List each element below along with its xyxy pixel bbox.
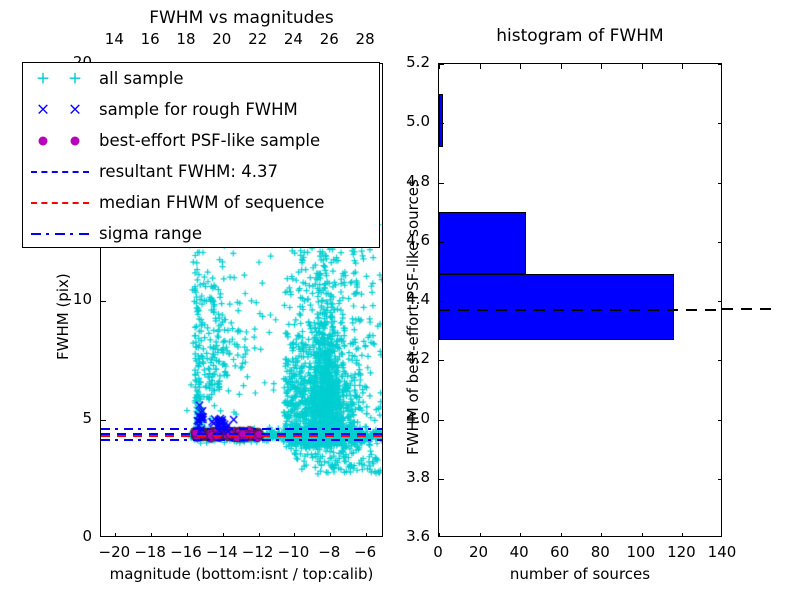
left-y-axis-label: FWHM (pix) [54, 273, 72, 360]
histogram-bar [439, 212, 526, 274]
right-y-tick-mark [439, 183, 444, 184]
legend-label: best-effort PSF-like sample [99, 131, 320, 150]
right-x-tick-mark [561, 533, 562, 537]
ref-line-sigma-upper [101, 428, 382, 430]
right-y-tick-label: 5.2 [390, 53, 430, 71]
right-x-tick-mark [642, 533, 643, 537]
right-y-tick-mark [439, 479, 444, 480]
left-x-tick-mark [259, 533, 260, 537]
histogram-bar [439, 94, 443, 147]
circle-marker [71, 136, 80, 145]
right-x-tick-mark [439, 533, 440, 537]
legend: ++all sample××sample for rough FWHMbest-… [22, 62, 380, 248]
left-x-tick-mark [366, 533, 367, 537]
legend-label: median FHWM of sequence [99, 193, 324, 212]
right-y-tick-mark [439, 242, 444, 243]
circle-marker [39, 136, 48, 145]
dashed-line [31, 202, 89, 204]
left-y-tick-label: 5 [56, 409, 92, 427]
right-x-tick-label: 40 [499, 543, 539, 561]
right-x-tick-mark [480, 533, 481, 537]
legend-marker-cross-marker: ×× [23, 94, 99, 125]
right-y-tick-mark [718, 242, 722, 243]
right-y-tick-label: 3.8 [390, 468, 430, 486]
top-tick-label: 16 [138, 30, 162, 48]
right-y-tick-mark [718, 64, 722, 65]
legend-marker-circle-marker [23, 125, 99, 156]
left-x-tick-label: −12 [240, 543, 276, 561]
top-tick-label: 14 [102, 30, 126, 48]
right-y-tick-mark [718, 183, 722, 184]
left-x-tick-label: −18 [132, 543, 168, 561]
legend-label: all sample [99, 69, 184, 88]
legend-marker-dash-dot-line [23, 218, 99, 249]
cross-marker: × [68, 101, 82, 118]
legend-label: sample for rough FWHM [99, 100, 298, 119]
left-x-tick-mark [330, 533, 331, 537]
hist-ref-line-resultant-fwhm [439, 309, 721, 311]
right-y-tick-mark [439, 360, 444, 361]
right-y-tick-mark [718, 420, 722, 421]
dashed-line [31, 171, 89, 173]
right-x-tick-label: 120 [661, 543, 701, 561]
top-tick-label: 28 [353, 30, 377, 48]
right-plot-title: histogram of FWHM [438, 26, 722, 46]
legend-marker-dashed-line [23, 187, 99, 218]
right-x-tick-label: 60 [540, 543, 580, 561]
right-y-tick-mark [439, 123, 444, 124]
legend-label: sigma range [99, 224, 202, 243]
right-y-tick-mark [718, 479, 722, 480]
legend-item: ××sample for rough FWHM [23, 94, 379, 125]
dash-dot-line [31, 233, 89, 235]
left-x-tick-mark [187, 533, 188, 537]
right-x-tick-label: 80 [580, 543, 620, 561]
legend-item: best-effort PSF-like sample [23, 125, 379, 156]
right-x-tick-mark [642, 64, 643, 69]
hist-ref-line-overflow-segment [722, 308, 778, 310]
legend-label: resultant FWHM: 4.37 [99, 162, 278, 181]
histogram-bar [439, 274, 674, 339]
right-y-tick-mark [439, 420, 444, 421]
left-x-tick-label: −6 [347, 543, 383, 561]
right-x-tick-mark [682, 64, 683, 69]
legend-item: sigma range [23, 218, 379, 249]
right-y-tick-label: 5.0 [390, 112, 430, 130]
cross-marker: × [36, 101, 50, 118]
left-x-tick-label: −8 [311, 543, 347, 561]
right-x-tick-mark [601, 64, 602, 69]
left-x-tick-label: −10 [275, 543, 311, 561]
right-x-tick-label: 0 [418, 543, 458, 561]
legend-item: ++all sample [23, 63, 379, 94]
left-plot-title: FWHM vs magnitudes [100, 8, 383, 28]
legend-item: resultant FWHM: 4.37 [23, 156, 379, 187]
right-x-tick-mark [480, 64, 481, 69]
right-y-tick-mark [439, 301, 444, 302]
top-tick-label: 24 [281, 30, 305, 48]
right-x-tick-label: 140 [702, 543, 742, 561]
plus-marker: + [68, 70, 82, 87]
top-tick-label: 26 [317, 30, 341, 48]
right-x-tick-label: 100 [621, 543, 661, 561]
left-y-tick-mark [101, 420, 106, 421]
right-x-tick-mark [520, 533, 521, 537]
right-x-tick-mark [682, 533, 683, 537]
legend-item: median FHWM of sequence [23, 187, 379, 218]
ref-line-sigma-lower [101, 439, 382, 441]
left-x-tick-mark [151, 533, 152, 537]
right-x-tick-label: 20 [459, 543, 499, 561]
right-y-tick-mark [718, 360, 722, 361]
top-tick-label: 22 [246, 30, 270, 48]
right-y-tick-mark [718, 123, 722, 124]
right-y-axis-label: FWHM of best-effort PSF-like sources [404, 179, 422, 455]
left-x-tick-label: −14 [204, 543, 240, 561]
histogram-axes [438, 63, 722, 537]
legend-marker-plus-marker: ++ [23, 63, 99, 94]
left-x-tick-mark [294, 533, 295, 537]
left-y-tick-mark [101, 301, 106, 302]
right-y-tick-mark [718, 301, 722, 302]
right-x-axis-label: number of sources [438, 565, 722, 583]
right-x-tick-mark [520, 64, 521, 69]
right-x-tick-mark [439, 64, 440, 69]
right-x-tick-mark [561, 64, 562, 69]
left-x-tick-label: −16 [168, 543, 204, 561]
plus-marker: + [36, 70, 50, 87]
left-y-tick-label: 0 [56, 527, 92, 545]
left-x-tick-mark [223, 533, 224, 537]
ref-line-median-fhwm [101, 435, 382, 437]
figure-canvas: FWHM vs magnitudes 1416182022242628 0510… [0, 0, 800, 600]
top-tick-label: 18 [174, 30, 198, 48]
legend-marker-dashed-line [23, 156, 99, 187]
top-tick-label: 20 [210, 30, 234, 48]
left-x-axis-label: magnitude (bottom:isnt / top:calib) [60, 565, 423, 583]
left-x-tick-mark [115, 533, 116, 537]
right-x-tick-mark [601, 533, 602, 537]
left-x-tick-label: −20 [96, 543, 132, 561]
